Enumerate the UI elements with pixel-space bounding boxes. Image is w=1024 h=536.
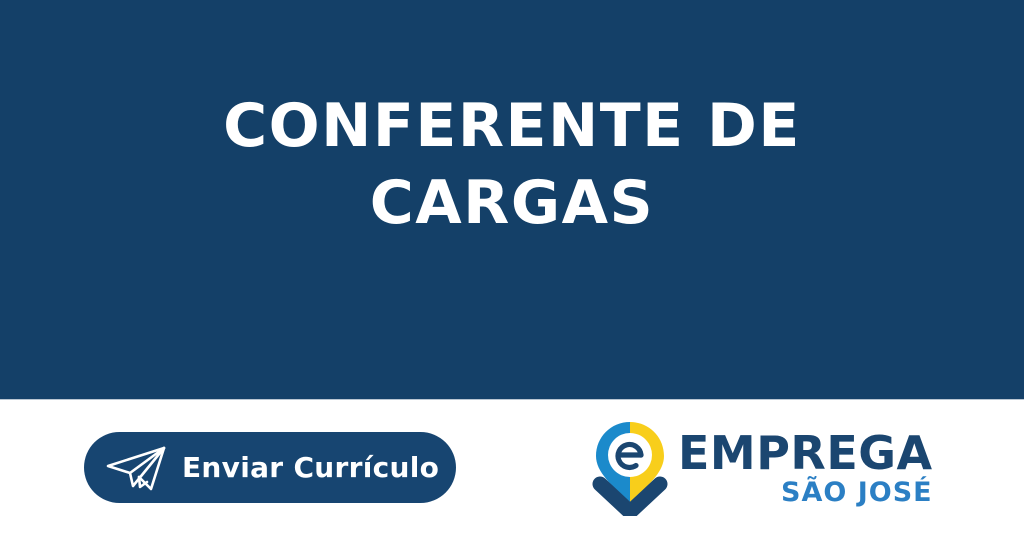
logo-wordmark: EMPREGA SÃO JOSÉ — [678, 430, 933, 506]
paper-plane-icon — [106, 445, 170, 491]
send-cv-label: Enviar Currículo — [182, 451, 439, 484]
page-title: Conferente de Cargas — [223, 88, 801, 242]
job-vacancy-banner: Conferente de Cargas Enviar Currículo — [0, 0, 1024, 536]
brand-name: EMPREGA — [678, 430, 933, 476]
footer-bar: Enviar Currículo — [0, 400, 1024, 536]
emprega-sao-jose-logo: EMPREGA SÃO JOSÉ — [588, 418, 918, 518]
map-pin-e-icon — [588, 420, 672, 516]
brand-subtitle: SÃO JOSÉ — [781, 479, 933, 506]
send-cv-button[interactable]: Enviar Currículo — [84, 432, 456, 503]
hero-section: Conferente de Cargas — [0, 0, 1024, 400]
